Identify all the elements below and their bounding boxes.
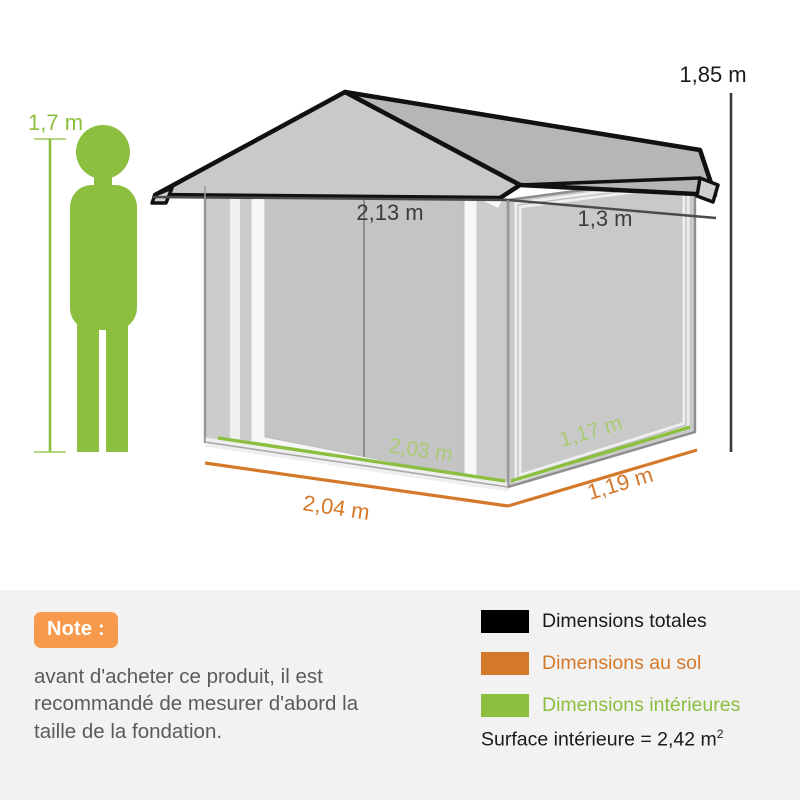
legend-swatch-interior xyxy=(481,694,529,717)
note-and-legend-panel: Note : avant d'acheter ce produit, il es… xyxy=(0,590,800,800)
note-badge: Note : xyxy=(34,612,118,648)
legend-swatch-ground xyxy=(481,652,529,675)
interior-surface-area: Surface intérieure = 2,42 m2 xyxy=(481,727,781,752)
legend-label-total: Dimensions totales xyxy=(542,612,707,632)
legend-item-interior: Dimensions intérieures xyxy=(481,694,781,717)
person-height-dimension xyxy=(34,139,66,452)
human-figure-icon xyxy=(70,125,137,452)
legend-swatch-total xyxy=(481,610,529,633)
legend-item-ground: Dimensions au sol xyxy=(481,652,781,675)
interior-depth-top-label: 1,3 m xyxy=(577,206,632,231)
legend-label-interior: Dimensions intérieures xyxy=(542,696,740,716)
interior-surface-text: Surface intérieure = 2,42 m xyxy=(481,729,717,751)
interior-height-label: 2,13 m xyxy=(356,200,423,225)
ground-width-label: 2,04 m xyxy=(301,490,371,525)
interior-surface-exponent: 2 xyxy=(717,727,724,741)
legend-label-ground: Dimensions au sol xyxy=(542,654,701,674)
note-text: avant d'acheter ce produit, il est recom… xyxy=(34,663,364,745)
shed-diagram: 1,7 m 1,85 m xyxy=(0,0,800,590)
note-column: Note : avant d'acheter ce produit, il es… xyxy=(34,612,454,745)
ground-depth-label: 1,19 m xyxy=(584,462,656,505)
legend-item-total: Dimensions totales xyxy=(481,610,781,633)
person-height-label: 1,7 m xyxy=(28,110,83,135)
legend: Dimensions totales Dimensions au sol Dim… xyxy=(481,610,781,752)
total-height-label: 1,85 m xyxy=(679,62,746,87)
shed-roof xyxy=(152,92,718,203)
dimension-diagram-page: 1,7 m 1,85 m xyxy=(0,0,800,800)
